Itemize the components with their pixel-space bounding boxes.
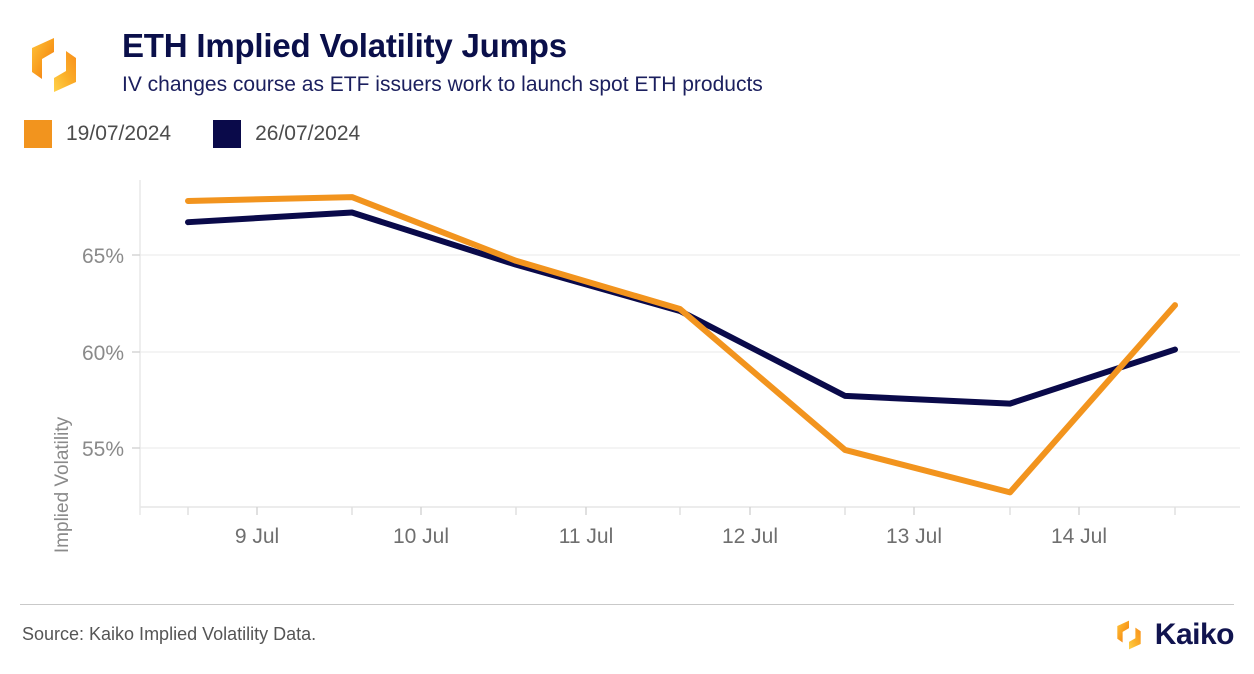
kaiko-hexagon-logo-icon — [1112, 618, 1146, 652]
x-tick-marks — [188, 507, 1175, 515]
y-tick-label-60: 60% — [82, 342, 124, 365]
legend-swatch-icon — [213, 120, 241, 148]
legend-label: 19/07/2024 — [66, 122, 171, 146]
footer-divider — [20, 604, 1234, 605]
x-tick-label-1: 10 Jul — [393, 525, 449, 548]
x-tick-label-3: 12 Jul — [722, 525, 778, 548]
chart-legend: 19/07/2024 26/07/2024 — [24, 120, 360, 148]
page-title: ETH Implied Volatility Jumps — [122, 26, 763, 66]
line-chart-svg: Implied Volatility 65% 60% 55% — [0, 170, 1254, 570]
legend-swatch-icon — [24, 120, 52, 148]
x-tick-label-0: 9 Jul — [235, 525, 279, 548]
kaiko-hexagon-logo-icon — [22, 33, 86, 97]
y-tick-label-55: 55% — [82, 438, 124, 461]
source-note: Source: Kaiko Implied Volatility Data. — [22, 624, 316, 645]
y-tick-label-65: 65% — [82, 245, 124, 268]
x-tick-label-2: 11 Jul — [559, 525, 613, 548]
chart-header: ETH Implied Volatility Jumps IV changes … — [0, 0, 1254, 170]
y-tick-marks — [132, 255, 140, 448]
y-axis-title: Implied Volatility — [52, 416, 73, 553]
x-tick-label-5: 14 Jul — [1051, 525, 1107, 548]
legend-item-1[interactable]: 26/07/2024 — [213, 120, 360, 148]
chart-page: ETH Implied Volatility Jumps IV changes … — [0, 0, 1254, 674]
page-subtitle: IV changes course as ETF issuers work to… — [122, 70, 763, 100]
title-block: ETH Implied Volatility Jumps IV changes … — [122, 26, 763, 100]
footer-brand-text: Kaiko — [1155, 620, 1234, 650]
legend-label: 26/07/2024 — [255, 122, 360, 146]
footer-brand: Kaiko — [1112, 618, 1234, 652]
legend-item-0[interactable]: 19/07/2024 — [24, 120, 171, 148]
plot-area: Implied Volatility 65% 60% 55% — [0, 170, 1254, 570]
x-tick-label-4: 13 Jul — [886, 525, 942, 548]
